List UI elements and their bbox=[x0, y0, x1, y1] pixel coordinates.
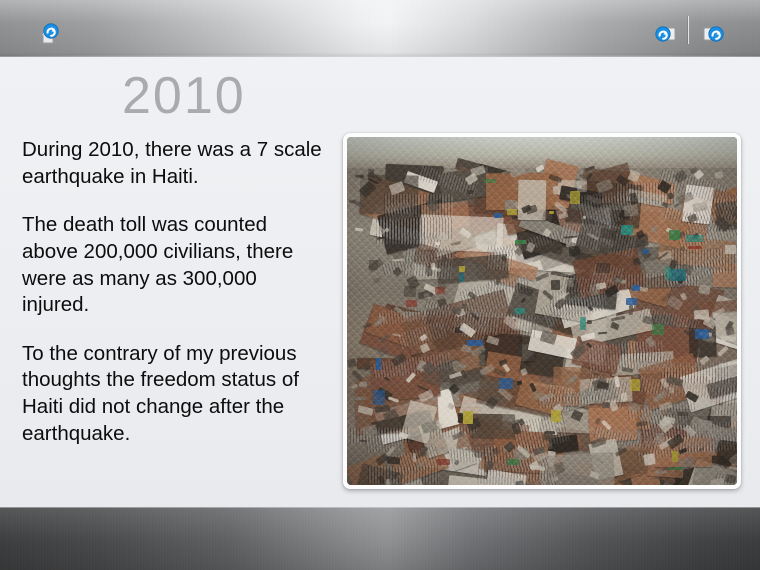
toolbar-texture bbox=[0, 0, 760, 57]
bottom-toolbar bbox=[0, 507, 760, 570]
photo-vignette bbox=[347, 137, 737, 485]
slide-title: 2010 bbox=[122, 70, 246, 122]
slide-body-text: During 2010, there was a 7 scale earthqu… bbox=[22, 137, 322, 447]
slide-canvas: 2010 During 2010, there was a 7 scale ea… bbox=[0, 57, 760, 507]
body-paragraph-2: The death toll was counted above 200,000… bbox=[22, 212, 322, 319]
body-paragraph-3: To the contrary of my previous thoughts … bbox=[22, 341, 322, 448]
bottombar-texture bbox=[0, 507, 760, 570]
toolbar-divider bbox=[688, 16, 689, 44]
previous-slide-icon[interactable] bbox=[651, 19, 681, 49]
body-paragraph-1: During 2010, there was a 7 scale earthqu… bbox=[22, 137, 322, 190]
slide-photo-frame bbox=[343, 133, 741, 489]
next-slide-icon[interactable] bbox=[698, 19, 728, 49]
haiti-earthquake-rubble-photo bbox=[347, 137, 737, 485]
top-toolbar bbox=[0, 0, 760, 57]
home-refresh-icon[interactable] bbox=[33, 19, 63, 49]
presentation-slide-viewer: 2010 During 2010, there was a 7 scale ea… bbox=[0, 0, 760, 570]
